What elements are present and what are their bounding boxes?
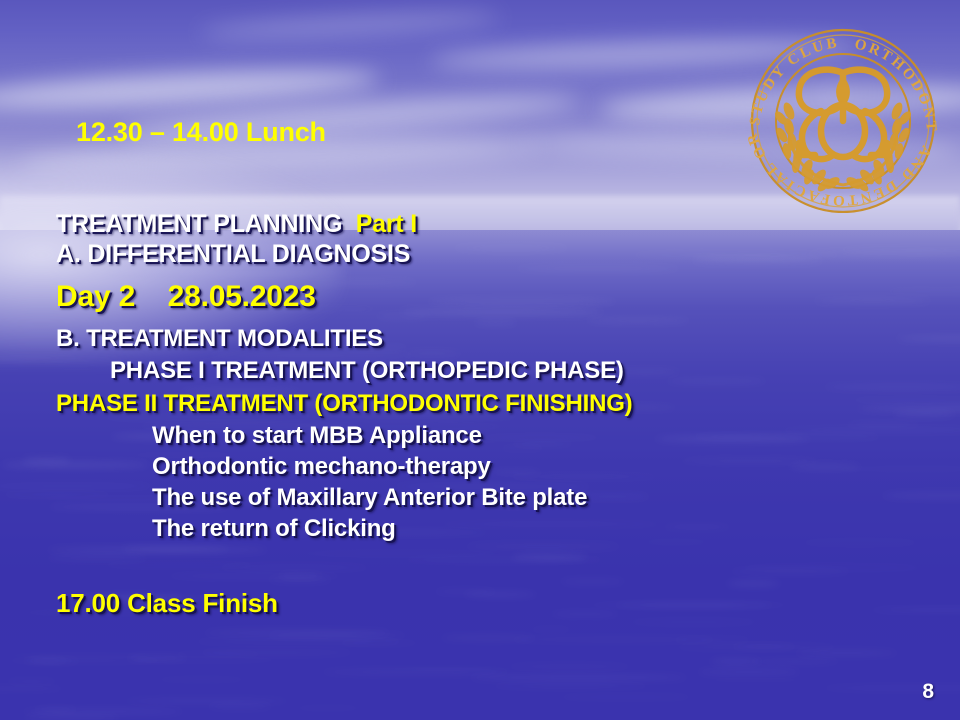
treatment-modalities-line: B. TREATMENT MODALITIES (56, 325, 383, 353)
bullet-line-1: When to start MBB Appliance (152, 422, 482, 450)
slide-content: 12.30 – 14.00 Lunch TREATMENT PLANNING P… (0, 0, 960, 720)
presentation-slide: STUDY CLUB ORTHODONTICS AND DENTOFACIAL … (0, 0, 960, 720)
day-label: Day 2 (56, 280, 135, 313)
day-date: 28.05.2023 (168, 280, 316, 313)
phase-one-line: PHASE I TREATMENT (ORTHOPEDIC PHASE) (110, 357, 624, 385)
treatment-planning-part-label: Part I (356, 210, 417, 238)
bullet-line-3: The use of Maxillary Anterior Bite plate (152, 484, 587, 512)
treatment-planning-line: TREATMENT PLANNING Part I (56, 210, 417, 239)
page-number: 8 (922, 680, 934, 704)
phase-two-line: PHASE II TREATMENT (ORTHODONTIC FINISHIN… (56, 390, 632, 418)
treatment-planning-label: TREATMENT PLANNING (56, 210, 342, 238)
differential-diagnosis-line: A. DIFFERENTIAL DIAGNOSIS (56, 240, 410, 269)
day-heading-line: Day 2 28.05.2023 (56, 280, 316, 314)
class-finish-line: 17.00 Class Finish (56, 588, 278, 619)
lunch-line: 12.30 – 14.00 Lunch (76, 117, 326, 148)
bullet-line-2: Orthodontic mechano-therapy (152, 453, 491, 481)
bullet-line-4: The return of Clicking (152, 515, 396, 543)
